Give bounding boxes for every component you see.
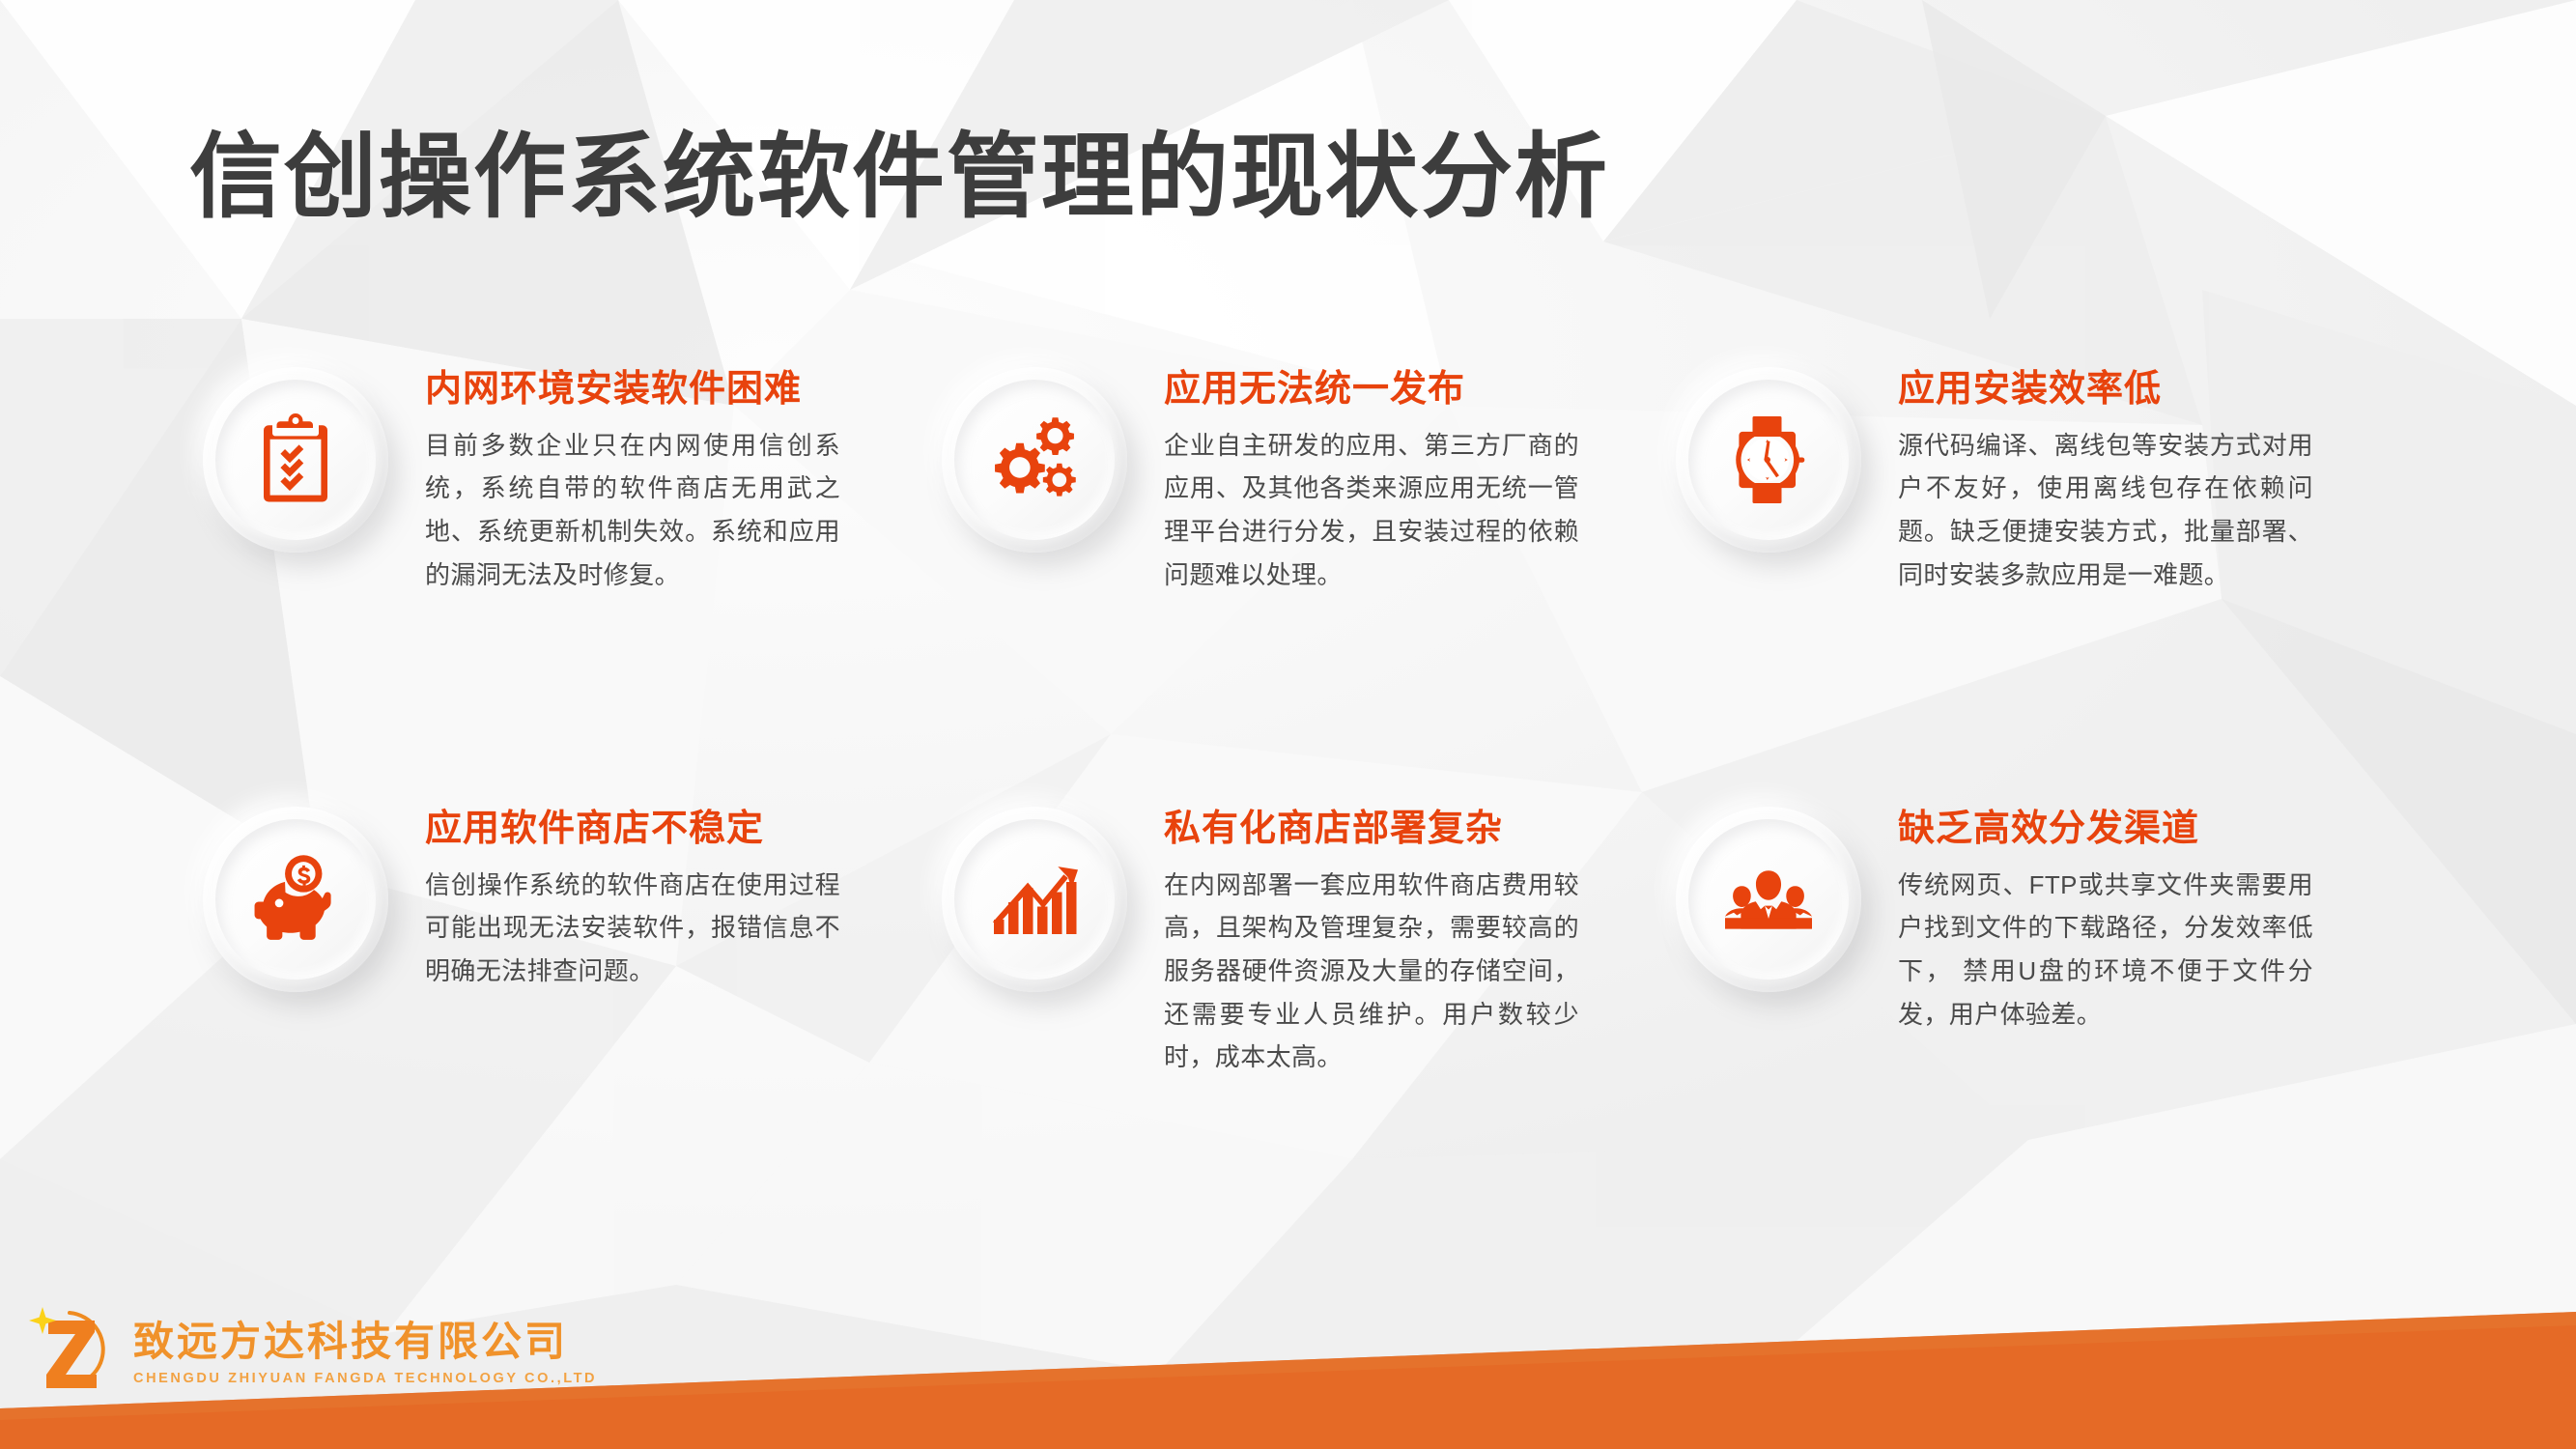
card-text: 内网环境安装软件困难 目前多数企业只在内网使用信创系统，系统自带的软件商店无用武…: [425, 359, 840, 596]
company-logo: 致远方达科技有限公司 CHENGDU ZHIYUAN FANGDA TECHNO…: [29, 1303, 597, 1404]
card-text: 应用安装效率低 源代码编译、离线包等安装方式对用户不友好，使用离线包存在依赖问题…: [1898, 359, 2313, 596]
page-title: 信创操作系统软件管理的现状分析: [189, 129, 1609, 227]
user-group-icon: [1722, 853, 1815, 946]
card-heading: 缺乏高效分发渠道: [1898, 809, 2313, 850]
card-heading: 内网环境安装软件困难: [425, 369, 840, 411]
card-medallion: [942, 807, 1127, 992]
clipboard-checklist-icon: [249, 413, 342, 506]
card-body: 企业自主研发的应用、第三方厂商的应用、及其他各类来源应用无统一管理平台进行分发，…: [1164, 424, 1579, 597]
card-body: 在内网部署一套应用软件商店费用较高，且架构及管理复杂，需要较高的服务器硬件资源及…: [1164, 864, 1579, 1080]
card-body: 传统网页、FTP或共享文件夹需要用户找到文件的下载路径，分发效率低下， 禁用U盘…: [1898, 864, 2313, 1037]
card-item: 内网环境安装软件困难 目前多数企业只在内网使用信创系统，系统自带的软件商店无用武…: [203, 359, 840, 596]
card-medallion: [203, 367, 388, 553]
card-item: 应用软件商店不稳定 信创操作系统的软件商店在使用过程可能出现无法安装软件，报错信…: [203, 799, 840, 993]
company-name-en: CHENGDU ZHIYUAN FANGDA TECHNOLOGY CO.,LT…: [133, 1371, 597, 1386]
card-medallion: [203, 807, 388, 992]
cards-grid: 内网环境安装软件困难 目前多数企业只在内网使用信创系统，系统自带的软件商店无用武…: [0, 359, 2576, 1205]
card-medallion: [942, 367, 1127, 553]
card-text: 应用软件商店不稳定 信创操作系统的软件商店在使用过程可能出现无法安装软件，报错信…: [425, 799, 840, 993]
card-heading: 私有化商店部署复杂: [1164, 809, 1579, 850]
card-heading: 应用安装效率低: [1898, 369, 2313, 411]
card-text: 应用无法统一发布 企业自主研发的应用、第三方厂商的应用、及其他各类来源应用无统一…: [1164, 359, 1579, 596]
card-heading: 应用无法统一发布: [1164, 369, 1579, 411]
card-text: 私有化商店部署复杂 在内网部署一套应用软件商店费用较高，且架构及管理复杂，需要较…: [1164, 799, 1579, 1079]
gears-icon: [988, 413, 1081, 506]
card-body: 源代码编译、离线包等安装方式对用户不友好，使用离线包存在依赖问题。缺乏便捷安装方…: [1898, 424, 2313, 597]
cards-row-2: 应用软件商店不稳定 信创操作系统的软件商店在使用过程可能出现无法安装软件，报错信…: [0, 799, 2576, 1205]
card-heading: 应用软件商店不稳定: [425, 809, 840, 850]
wristwatch-icon: [1722, 413, 1815, 506]
card-text: 缺乏高效分发渠道 传统网页、FTP或共享文件夹需要用户找到文件的下载路径，分发效…: [1898, 799, 2313, 1036]
piggy-bank-icon: [249, 853, 342, 946]
presentation-slide: 信创操作系统软件管理的现状分析: [0, 0, 2576, 1449]
z-star-logo-icon: [29, 1303, 122, 1404]
card-item: 缺乏高效分发渠道 传统网页、FTP或共享文件夹需要用户找到文件的下载路径，分发效…: [1676, 799, 2313, 1036]
card-item: 应用无法统一发布 企业自主研发的应用、第三方厂商的应用、及其他各类来源应用无统一…: [942, 359, 1579, 596]
card-medallion: [1676, 807, 1861, 992]
company-logo-text: 致远方达科技有限公司 CHENGDU ZHIYUAN FANGDA TECHNO…: [133, 1321, 597, 1385]
card-item: 私有化商店部署复杂 在内网部署一套应用软件商店费用较高，且架构及管理复杂，需要较…: [942, 799, 1579, 1079]
card-item: 应用安装效率低 源代码编译、离线包等安装方式对用户不友好，使用离线包存在依赖问题…: [1676, 359, 2313, 596]
company-name-cn: 致远方达科技有限公司: [133, 1321, 597, 1363]
card-body: 信创操作系统的软件商店在使用过程可能出现无法安装软件，报错信息不明确无法排查问题…: [425, 864, 840, 993]
card-medallion: [1676, 367, 1861, 553]
card-body: 目前多数企业只在内网使用信创系统，系统自带的软件商店无用武之地、系统更新机制失效…: [425, 424, 840, 597]
cards-row-1: 内网环境安装软件困难 目前多数企业只在内网使用信创系统，系统自带的软件商店无用武…: [0, 359, 2576, 765]
growth-bar-chart-icon: [988, 853, 1081, 946]
